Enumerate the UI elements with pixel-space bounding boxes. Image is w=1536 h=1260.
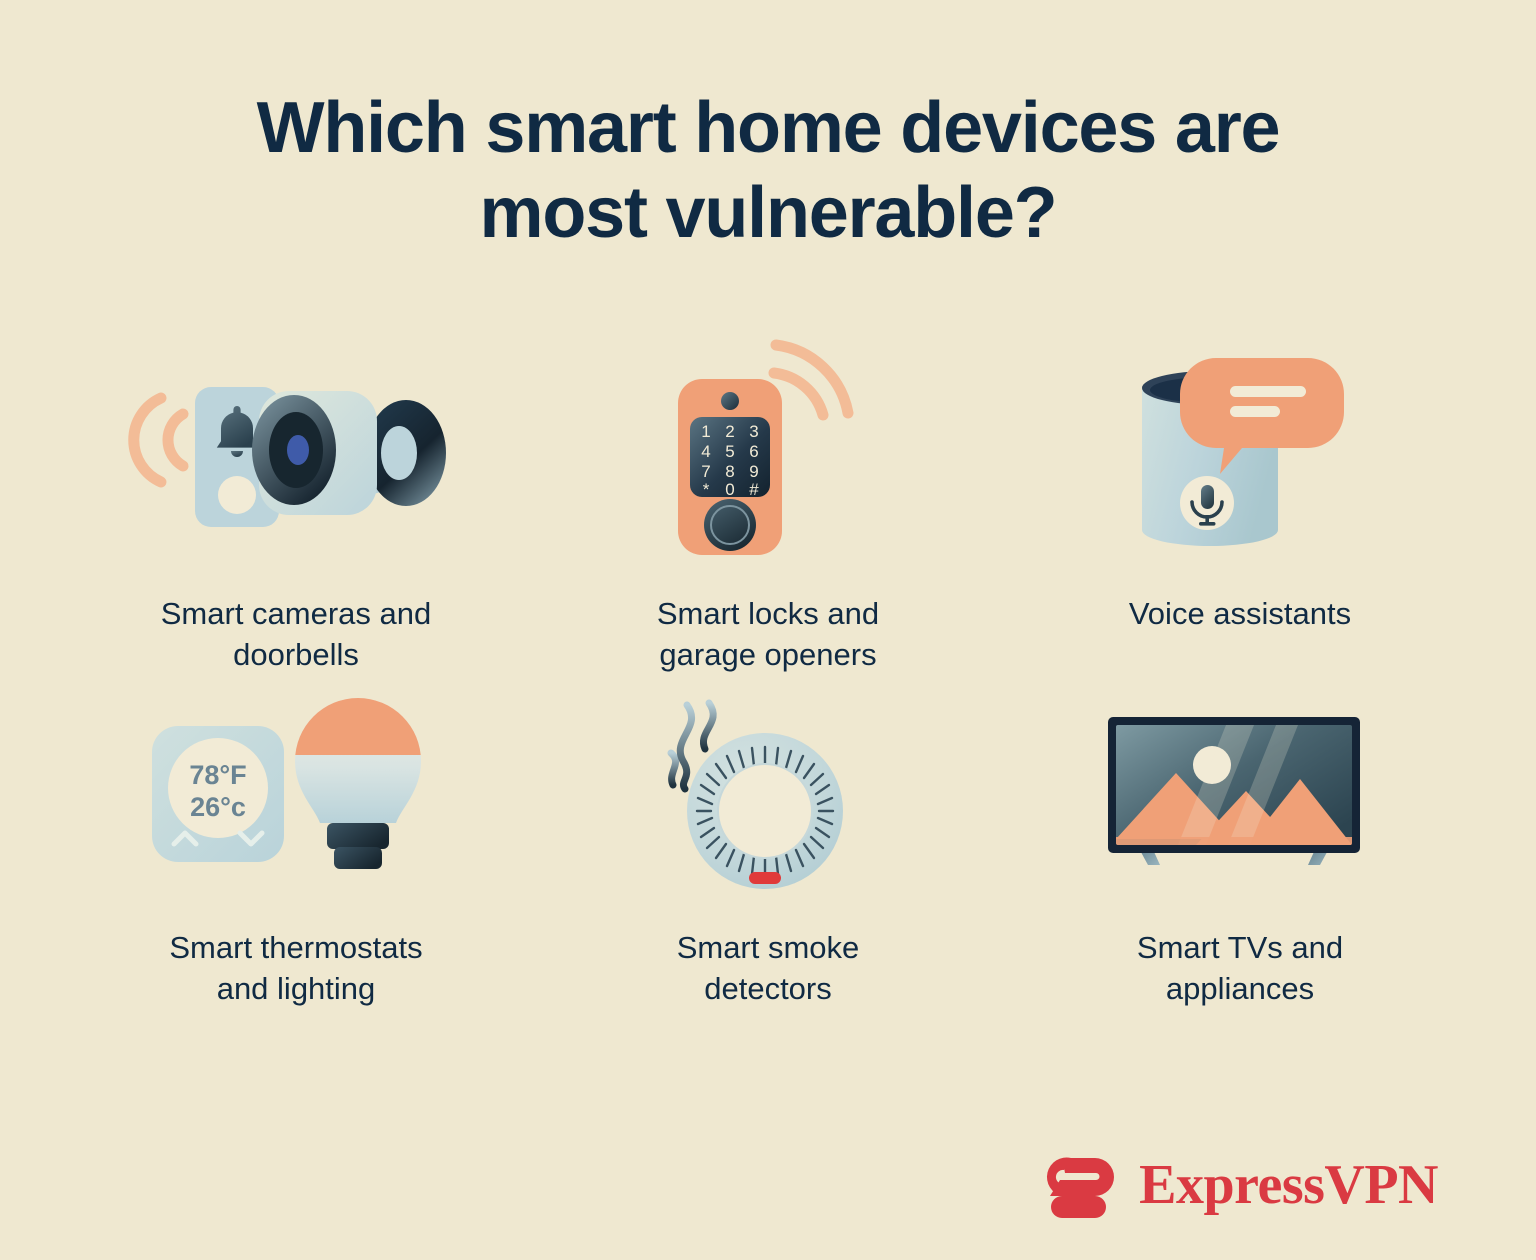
keypad-key-5: 5	[725, 442, 734, 461]
keypad-key-3: 3	[749, 422, 758, 441]
device-card-smart-smoke-detectors: Smart smoke detectors	[532, 680, 1004, 1010]
device-card-smart-locks-and-garage-openers: 1 2 3 4 5 6 7 8 9 * 0 #	[532, 330, 1004, 680]
device-label-line2: detectors	[704, 971, 832, 1006]
keypad-key-star: *	[703, 480, 710, 499]
camera-mount-ring	[366, 400, 446, 506]
smart-tv-svg	[1100, 707, 1380, 887]
page-title-line1: Which smart home devices are	[257, 88, 1280, 168]
thermostat-lightbulb-icon: 78°F 26°c	[60, 680, 532, 914]
keypad-key-0: 0	[725, 480, 734, 499]
signal-waves-icon	[134, 398, 183, 482]
device-label-line2: and lighting	[217, 971, 376, 1006]
infographic-page: Which smart home devices are most vulner…	[0, 0, 1536, 1260]
smoke-detector-icon	[532, 680, 1004, 914]
device-label-line2: garage openers	[659, 637, 876, 672]
thermostat-celsius-value: 26°c	[190, 792, 246, 822]
device-label-line2: doorbells	[233, 637, 359, 672]
smoke-detector-svg	[643, 687, 893, 907]
keypad-key-hash: #	[749, 480, 759, 499]
device-label-line1: Smart thermostats	[169, 930, 422, 965]
device-label-line1: Voice assistants	[1129, 596, 1351, 631]
smart-lock-svg: 1 2 3 4 5 6 7 8 9 * 0 #	[658, 335, 878, 575]
device-label-smart-cameras-and-doorbells: Smart cameras and doorbells	[161, 594, 432, 676]
bulb-base-screw	[334, 847, 382, 869]
keypad-key-7: 7	[701, 462, 710, 481]
device-label-line1: Smart cameras and	[161, 596, 432, 631]
keypad-key-2: 2	[725, 422, 734, 441]
camera-lens	[252, 395, 336, 505]
bulb-base-collar	[327, 823, 389, 849]
device-card-smart-thermostats-and-lighting: 78°F 26°c	[60, 680, 532, 1010]
voice-assistant-svg	[1120, 340, 1360, 570]
smart-lock-keypad-icon: 1 2 3 4 5 6 7 8 9 * 0 #	[532, 330, 1004, 580]
signal-waves-icon	[774, 345, 848, 415]
device-card-voice-assistants: Voice assistants	[1004, 330, 1476, 680]
security-camera-doorbell-svg	[131, 350, 461, 560]
thermostat-fahrenheit-value: 78°F	[189, 760, 246, 790]
device-label-voice-assistants: Voice assistants	[1129, 594, 1351, 635]
keypad-key-9: 9	[749, 462, 758, 481]
lightbulb-icon	[286, 692, 436, 869]
detector-led	[749, 872, 781, 884]
expressvpn-logo: ExpressVPN	[1047, 1152, 1438, 1218]
smart-tv-icon	[1004, 680, 1476, 914]
bubble-line-2	[1230, 406, 1280, 417]
page-title-line2: most vulnerable?	[480, 173, 1057, 253]
keypad-key-4: 4	[701, 442, 710, 461]
device-card-smart-tvs-and-appliances: Smart TVs and appliances	[1004, 680, 1476, 1010]
lock-knob[interactable]	[704, 499, 756, 551]
keypad-key-1: 1	[701, 422, 710, 441]
page-title: Which smart home devices are most vulner…	[0, 86, 1536, 256]
device-label-smart-locks-and-garage-openers: Smart locks and garage openers	[657, 594, 879, 676]
keypad-key-8: 8	[725, 462, 734, 481]
keypad-key-6: 6	[749, 442, 758, 461]
doorbell-button[interactable]	[218, 476, 256, 514]
bulb-orange-top	[286, 692, 436, 755]
device-label-line1: Smart TVs and	[1137, 930, 1343, 965]
smart-speaker-microphone-icon	[1004, 330, 1476, 580]
device-label-smart-tvs-and-appliances: Smart TVs and appliances	[1137, 928, 1343, 1010]
device-label-line1: Smart locks and	[657, 596, 879, 631]
device-grid: Smart cameras and doorbells	[60, 330, 1476, 1010]
thermostat-bulb-svg: 78°F 26°c	[146, 692, 446, 902]
device-card-smart-cameras-and-doorbells: Smart cameras and doorbells	[60, 330, 532, 680]
security-camera-doorbell-icon	[60, 330, 532, 580]
device-label-smart-thermostats-and-lighting: Smart thermostats and lighting	[169, 928, 422, 1010]
expressvpn-wordmark: ExpressVPN	[1139, 1157, 1438, 1213]
bubble-line-1	[1230, 386, 1306, 397]
tv-screen[interactable]	[1116, 725, 1352, 845]
detector-center	[718, 764, 812, 858]
device-label-line2: appliances	[1166, 971, 1314, 1006]
lock-sensor-dot	[721, 392, 739, 410]
device-label-line1: Smart smoke	[677, 930, 860, 965]
device-label-smart-smoke-detectors: Smart smoke detectors	[677, 928, 860, 1010]
expressvpn-e-mark	[1047, 1152, 1125, 1218]
